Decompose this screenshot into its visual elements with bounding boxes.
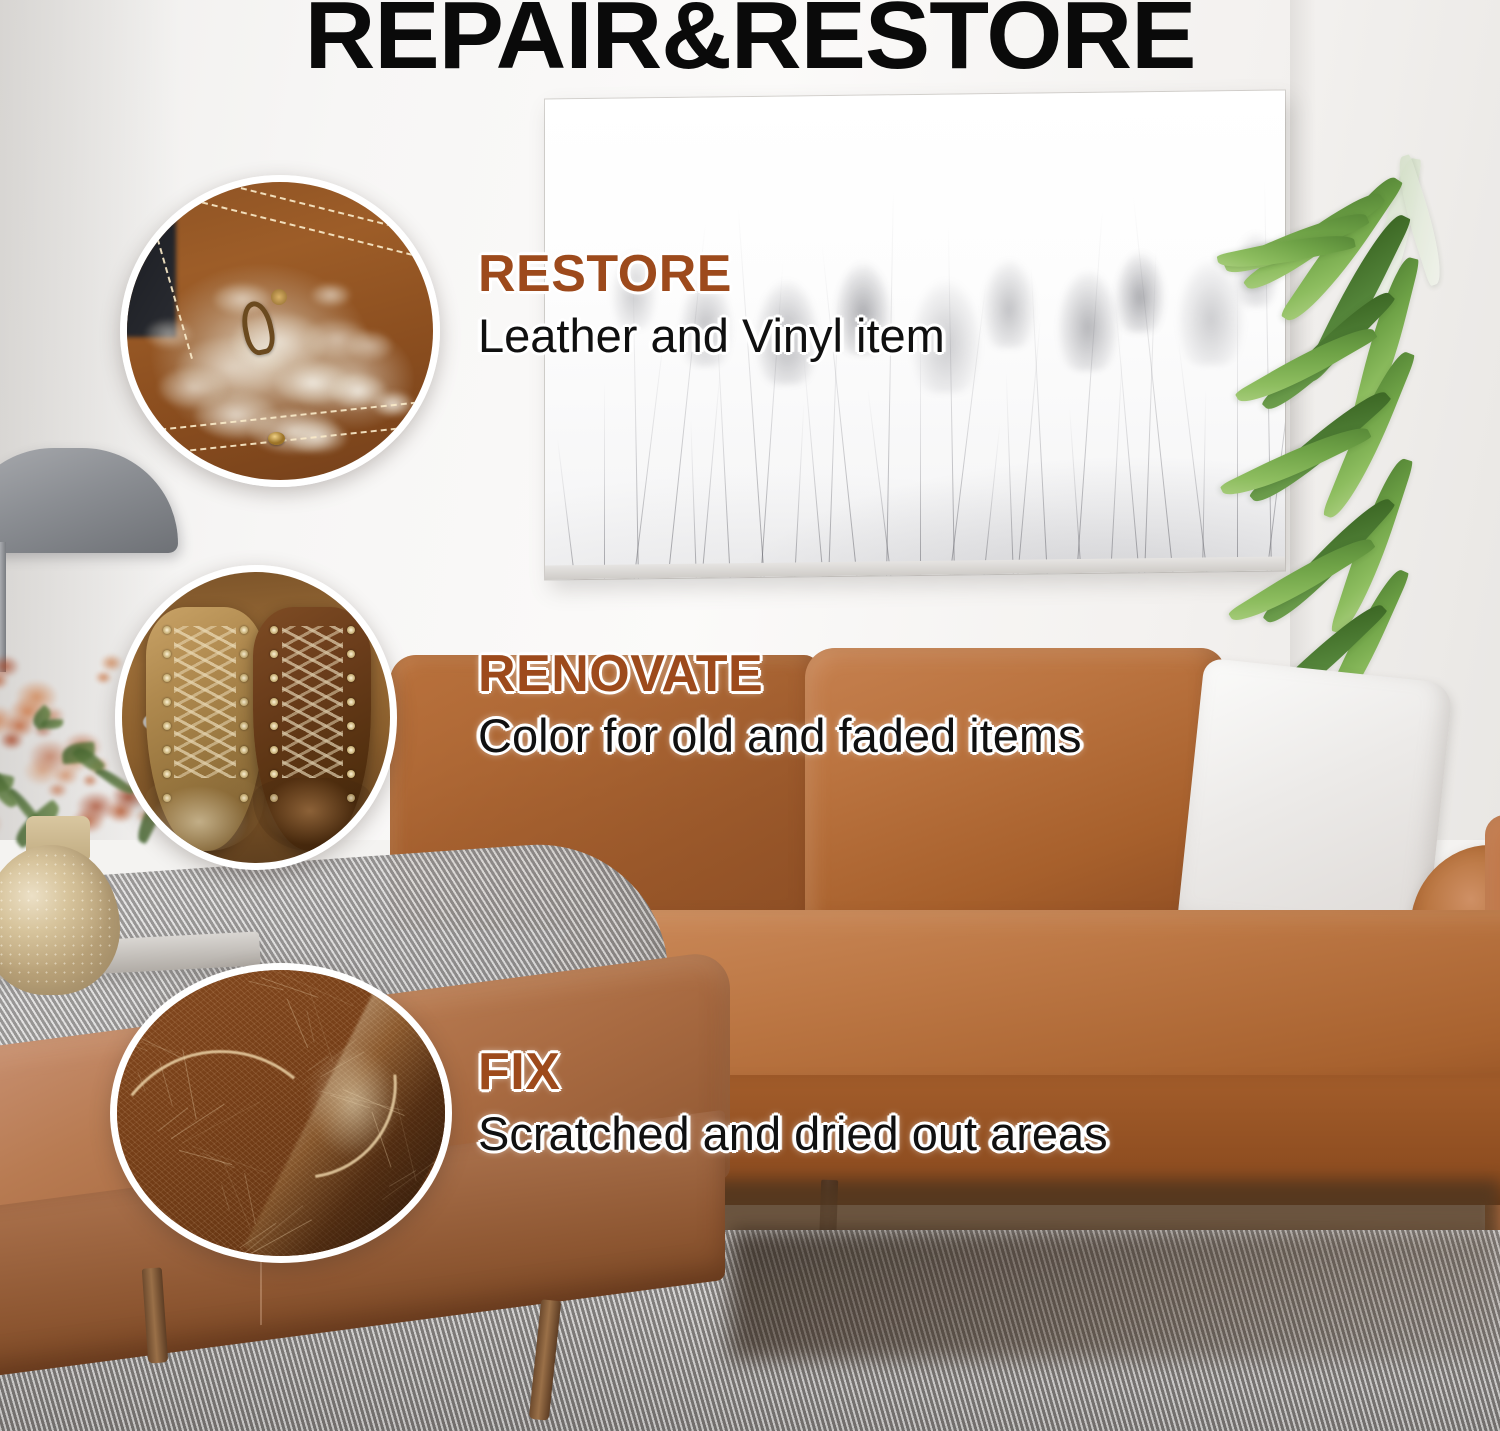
boot-eyelet bbox=[163, 770, 171, 778]
boot-eyelet bbox=[163, 746, 171, 754]
inset-image bbox=[122, 572, 390, 863]
boot-eyelet bbox=[347, 722, 355, 730]
boot-eyelet bbox=[240, 770, 248, 778]
boot-eyelet bbox=[163, 722, 171, 730]
boot-eyelet bbox=[270, 746, 278, 754]
boot-eyelet bbox=[240, 698, 248, 706]
boot-eyelets bbox=[240, 626, 248, 802]
boot-laces bbox=[282, 626, 343, 778]
boot-eyelet bbox=[347, 698, 355, 706]
page-title: REPAIR&RESTORE bbox=[0, 0, 1500, 84]
boot-eyelet bbox=[240, 626, 248, 634]
boot-eyelet bbox=[270, 698, 278, 706]
boot-eyelet bbox=[240, 746, 248, 754]
dried-flower-vase bbox=[0, 845, 120, 995]
bag-zipper-slider bbox=[271, 289, 287, 305]
feature-heading: RESTORE bbox=[478, 248, 945, 301]
boot-eyelets bbox=[163, 626, 171, 802]
inset-image bbox=[117, 970, 445, 1256]
boot-eyelet bbox=[163, 698, 171, 706]
rug-shadow-under-sofa bbox=[730, 1230, 1500, 1360]
boot-eyelet bbox=[270, 650, 278, 658]
feature-subheading: Scratched and dried out areas bbox=[478, 1109, 1108, 1158]
inset-before-after-leather-boots bbox=[115, 565, 397, 870]
boot-eyelets bbox=[347, 626, 355, 802]
boot-eyelet bbox=[270, 722, 278, 730]
faded-boot bbox=[146, 607, 264, 851]
boot-eyelet bbox=[347, 674, 355, 682]
mould-patch bbox=[158, 367, 228, 409]
boot-laces bbox=[174, 626, 235, 778]
boot-eyelet bbox=[240, 722, 248, 730]
dried-bloom bbox=[95, 671, 112, 684]
dried-bloom bbox=[0, 655, 20, 678]
boot-eyelet bbox=[270, 770, 278, 778]
inset-scratched-leather-surface bbox=[110, 963, 452, 1263]
boot-eyelet bbox=[163, 650, 171, 658]
boot-eyelet bbox=[163, 626, 171, 634]
boot-eyelet bbox=[270, 674, 278, 682]
dried-bloom bbox=[82, 774, 98, 786]
boot-eyelet bbox=[270, 626, 278, 634]
foliage-leaf bbox=[0, 765, 19, 811]
feature-heading: RENOVATE bbox=[478, 648, 1082, 701]
boot-eyelet bbox=[347, 770, 355, 778]
dried-bloom bbox=[100, 654, 123, 672]
boot-eyelet bbox=[163, 674, 171, 682]
bag-shadow bbox=[120, 175, 176, 337]
foliage-leaf bbox=[41, 719, 63, 730]
boot-eyelet bbox=[240, 650, 248, 658]
ottoman-leg bbox=[529, 1299, 561, 1420]
boot-eyelet bbox=[347, 650, 355, 658]
feature-subheading: Leather and Vinyl item bbox=[478, 311, 945, 360]
feature-subheading: Color for old and faded items bbox=[478, 711, 1082, 760]
promo-banner: REPAIR&RESTORE RESTORE Leather and Vinyl… bbox=[0, 0, 1500, 1431]
restored-boot bbox=[253, 607, 371, 851]
boot-eyelet bbox=[347, 626, 355, 634]
inset-image bbox=[127, 182, 433, 480]
mould-patch bbox=[347, 331, 393, 361]
feature-heading: FIX bbox=[478, 1046, 1108, 1099]
boot-eyelet bbox=[347, 746, 355, 754]
boot-eyelets bbox=[270, 626, 278, 802]
mould-patch bbox=[311, 283, 351, 307]
boot-eyelet bbox=[240, 674, 248, 682]
dried-bloom bbox=[0, 808, 2, 840]
feature-fix: FIX Scratched and dried out areas bbox=[478, 1046, 1108, 1158]
art-stroke bbox=[604, 382, 605, 580]
feature-renovate: RENOVATE Color for old and faded items bbox=[478, 648, 1082, 760]
inset-mouldy-leather-bag bbox=[120, 175, 440, 487]
feature-restore: RESTORE Leather and Vinyl item bbox=[478, 248, 945, 360]
